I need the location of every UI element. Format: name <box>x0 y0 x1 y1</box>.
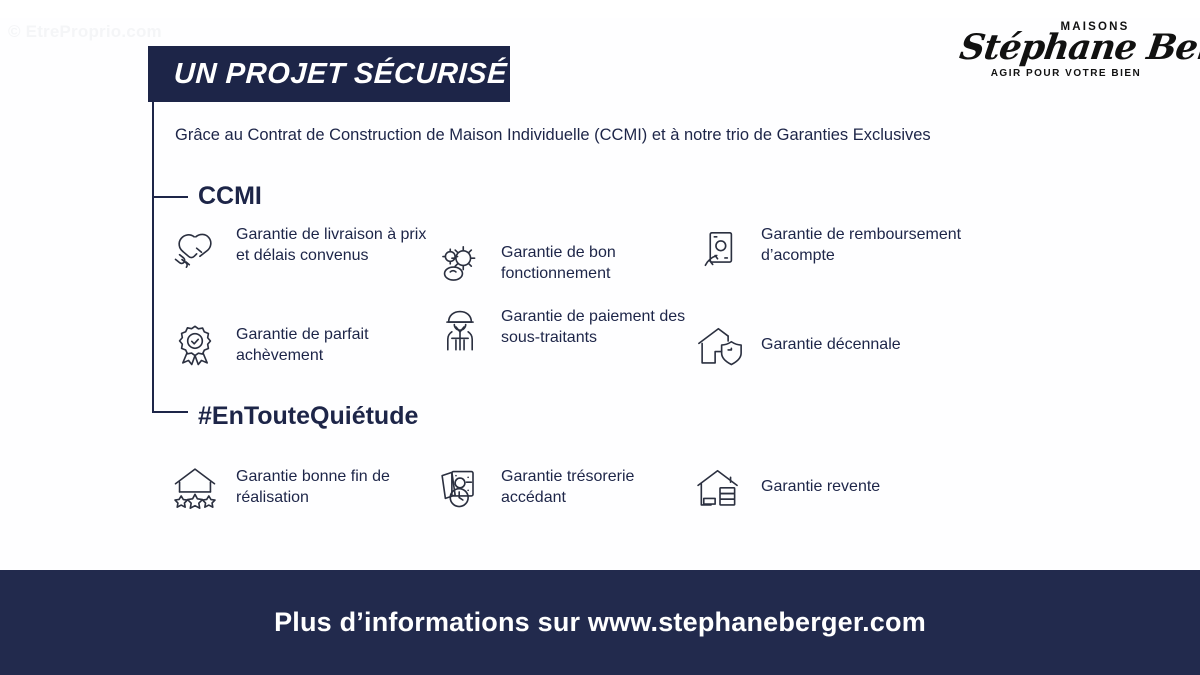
guarantee-label: Garantie de paiement des sous-traitants <box>501 304 693 349</box>
section-heading-quietude: #EnTouteQuiétude <box>198 402 418 431</box>
title-banner: UN PROJET SÉCURISÉ <box>148 46 510 102</box>
guarantee-label: Garantie de remboursement d’acompte <box>761 222 993 267</box>
guarantee-grid-ccmi: Garantie de livraison à prix et délais c… <box>168 222 993 386</box>
guarantee-label: Garantie trésorerie accédant <box>501 466 693 509</box>
bracket-vertical-line <box>152 102 154 412</box>
guarantee-item-remboursement-acompte: Garantie de remboursement d’acompte <box>693 222 993 304</box>
guarantee-item-parfait-achevement: Garantie de parfait achèvement <box>168 304 433 386</box>
page-title: UN PROJET SÉCURISÉ <box>173 58 508 91</box>
logo-tagline-text: AGIR POUR VOTRE BIEN <box>960 69 1172 79</box>
house-shield-icon <box>693 318 747 372</box>
guarantee-label: Garantie bonne fin de réalisation <box>236 466 433 509</box>
guarantee-label: Garantie revente <box>761 476 880 497</box>
guarantee-label: Garantie de livraison à prix et délais c… <box>236 222 433 267</box>
guarantee-label: Garantie de bon fonctionnement <box>501 242 693 285</box>
worker-helmet-icon <box>433 304 487 358</box>
guarantee-item-bon-fonctionnement: Garantie de bon fonctionnement <box>433 222 693 304</box>
guarantee-label: Garantie de parfait achèvement <box>236 324 433 367</box>
logo-name-text: Stéphane Berger <box>958 30 1175 65</box>
section-heading-ccmi: CCMI <box>198 182 262 211</box>
house-coins-icon <box>693 460 747 514</box>
guarantee-grid-quietude: Garantie bonne fin de réalisation Garant… <box>168 452 993 522</box>
footer-text: Plus d’informations sur www.stephaneberg… <box>274 607 926 638</box>
guarantee-item-decennale: Garantie décennale <box>693 304 993 386</box>
award-check-icon <box>168 318 222 372</box>
banknotes-clock-icon <box>433 460 487 514</box>
guarantee-item-paiement-sous-traitants: Garantie de paiement des sous-traitants <box>433 304 693 386</box>
guarantee-item-revente: Garantie revente <box>693 452 993 522</box>
bracket-tick-quietude <box>152 411 188 413</box>
top-letterbox <box>0 0 1200 18</box>
slide-root: © EtreProprio.com MAISONS Stéphane Berge… <box>0 0 1200 675</box>
brand-logo: MAISONS Stéphane Berger AGIR POUR VOTRE … <box>960 22 1172 79</box>
bracket-tick-ccmi <box>152 196 188 198</box>
guarantee-item-livraison: Garantie de livraison à prix et délais c… <box>168 222 433 304</box>
subtitle: Grâce au Contrat de Construction de Mais… <box>175 126 931 145</box>
watermark: © EtreProprio.com <box>8 22 162 42</box>
house-stars-icon <box>168 460 222 514</box>
footer-bar: Plus d’informations sur www.stephaneberg… <box>0 570 1200 675</box>
guarantee-label: Garantie décennale <box>761 334 901 355</box>
guarantee-item-tresorerie: Garantie trésorerie accédant <box>433 452 693 522</box>
handshake-icon <box>168 222 222 276</box>
gears-icon <box>433 236 487 290</box>
guarantee-item-bonne-fin: Garantie bonne fin de réalisation <box>168 452 433 522</box>
hand-banknote-icon <box>693 222 747 276</box>
